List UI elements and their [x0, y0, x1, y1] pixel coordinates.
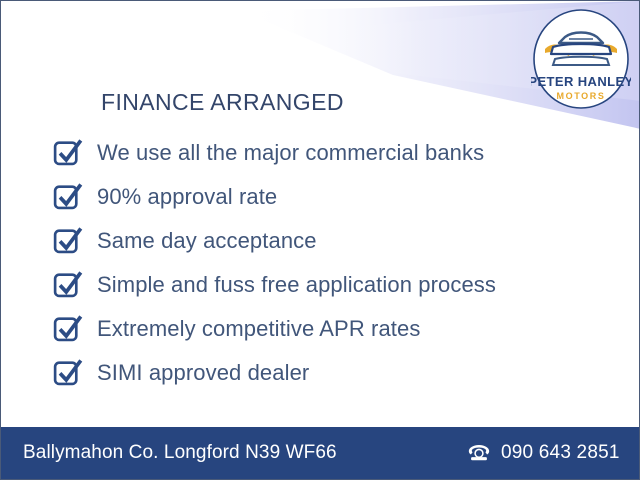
list-item-label: We use all the major commercial banks: [97, 142, 484, 164]
checkbox-checked-icon: [53, 137, 83, 167]
list-item-label: 90% approval rate: [97, 186, 277, 208]
logo-text-secondary: MOTORS: [557, 91, 606, 101]
list-item-label: Extremely competitive APR rates: [97, 318, 420, 340]
phone-group: 090 643 2851: [467, 442, 620, 464]
address-text: Ballymahon Co. Longford N39 WF66: [23, 442, 337, 464]
checkbox-checked-icon: [53, 313, 83, 343]
list-item-label: SIMI approved dealer: [97, 362, 309, 384]
telephone-icon: [467, 443, 491, 463]
circular-car-badge-icon: PETER HANLEY MOTORS: [531, 7, 631, 111]
checkbox-checked-icon: [53, 269, 83, 299]
feature-list: We use all the major commercial banks 90…: [53, 131, 613, 395]
footer-bar: Ballymahon Co. Longford N39 WF66 090 643…: [1, 427, 639, 479]
list-item: Extremely competitive APR rates: [53, 307, 613, 351]
logo-text-primary: PETER HANLEY: [531, 74, 631, 89]
list-item-label: Simple and fuss free application process: [97, 274, 496, 296]
page-title: FINANCE ARRANGED: [101, 89, 344, 116]
checkbox-checked-icon: [53, 357, 83, 387]
list-item: 90% approval rate: [53, 175, 613, 219]
list-item-label: Same day acceptance: [97, 230, 317, 252]
checkbox-checked-icon: [53, 181, 83, 211]
finance-banner: PETER HANLEY MOTORS FINANCE ARRANGED We …: [0, 0, 640, 480]
checkbox-checked-icon: [53, 225, 83, 255]
list-item: Same day acceptance: [53, 219, 613, 263]
phone-number: 090 643 2851: [501, 442, 620, 464]
list-item: SIMI approved dealer: [53, 351, 613, 395]
list-item: Simple and fuss free application process: [53, 263, 613, 307]
list-item: We use all the major commercial banks: [53, 131, 613, 175]
